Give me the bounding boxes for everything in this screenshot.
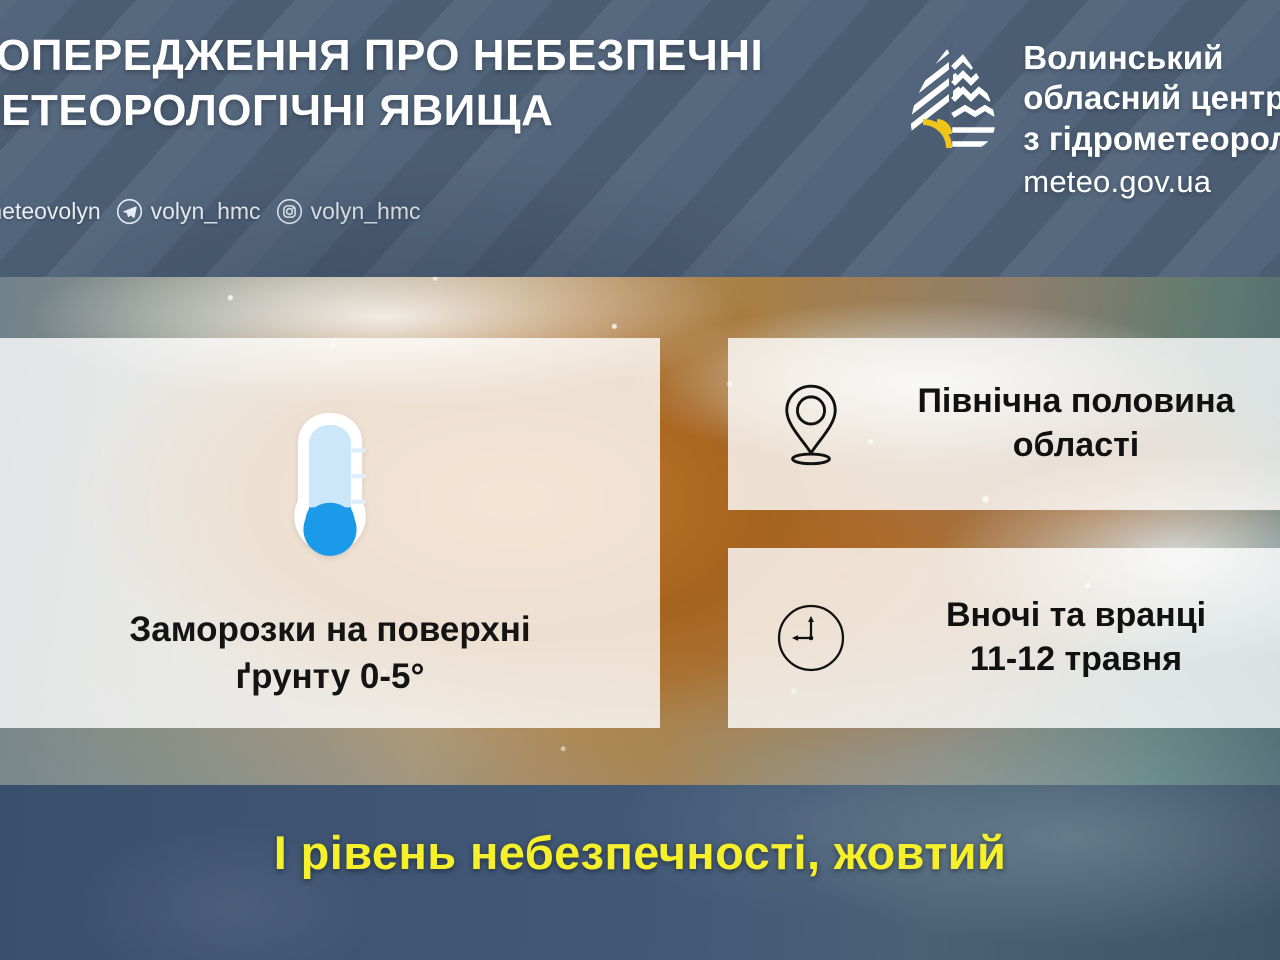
brand-block: Волинський обласний центр з гідрометеоро… (905, 38, 1280, 201)
social-telegram-handle: volyn_hmc (151, 198, 261, 225)
location-panel: Північна половина області (728, 338, 1280, 510)
phenomenon-panel: Заморозки на поверхні ґрунту 0-5° (0, 338, 660, 728)
instagram-icon (276, 198, 303, 225)
time-panel: Вночі та вранці 11-12 травня (728, 548, 1280, 728)
social-instagram[interactable]: volyn_hmc (276, 198, 421, 225)
phenomenon-caption: Заморозки на поверхні ґрунту 0-5° (30, 607, 630, 700)
time-text: Вночі та вранці 11-12 травня (872, 594, 1280, 681)
map-pin-icon (776, 378, 846, 470)
brand-name: Волинський обласний центр з гідрометеоро… (1023, 38, 1280, 201)
header-band: ПОПЕРЕДЖЕННЯ ПРО НЕБЕЗПЕЧНІ МЕТЕОРОЛОГІЧ… (0, 0, 1280, 277)
infographic-canvas: ПОПЕРЕДЖЕННЯ ПРО НЕБЕЗПЕЧНІ МЕТЕОРОЛОГІЧ… (0, 0, 1280, 960)
social-instagram-handle: volyn_hmc (311, 198, 421, 225)
clock-icon (776, 592, 846, 684)
page-title-line-2: МЕТЕОРОЛОГІЧНІ ЯВИЩА (0, 83, 864, 138)
social-telegram[interactable]: volyn_hmc (116, 198, 261, 225)
time-text-line-2: 11-12 травня (872, 638, 1280, 682)
brand-line-3: з гідрометеорології (1023, 119, 1280, 159)
social-facebook[interactable]: meteovolyn (0, 198, 101, 225)
location-text: Північна половина області (872, 380, 1280, 467)
location-text-line-2: області (872, 424, 1280, 468)
hydrometeo-leaf-logo-icon (905, 38, 1001, 158)
page-title: ПОПЕРЕДЖЕННЯ ПРО НЕБЕЗПЕЧНІ МЕТЕОРОЛОГІЧ… (0, 28, 864, 139)
danger-level-text: І рівень небезпечності, жовтий (0, 825, 1280, 880)
location-text-line-1: Північна половина (872, 380, 1280, 424)
phenomenon-caption-line-1: Заморозки на поверхні (30, 607, 630, 654)
brand-line-2: обласний центр (1023, 78, 1280, 118)
page-title-line-1: ПОПЕРЕДЖЕННЯ ПРО НЕБЕЗПЕЧНІ (0, 28, 864, 83)
brand-line-1: Волинський (1023, 38, 1280, 78)
telegram-icon (116, 198, 143, 225)
footer-band: І рівень небезпечності, жовтий (0, 785, 1280, 960)
brand-website[interactable]: meteo.gov.ua (1023, 163, 1280, 201)
social-links: meteovolyn volyn_hmc (0, 198, 421, 225)
thermometer-icon (275, 412, 385, 577)
social-facebook-handle: meteovolyn (0, 198, 101, 225)
time-text-line-1: Вночі та вранці (872, 594, 1280, 638)
phenomenon-caption-line-2: ґрунту 0-5° (30, 654, 630, 701)
